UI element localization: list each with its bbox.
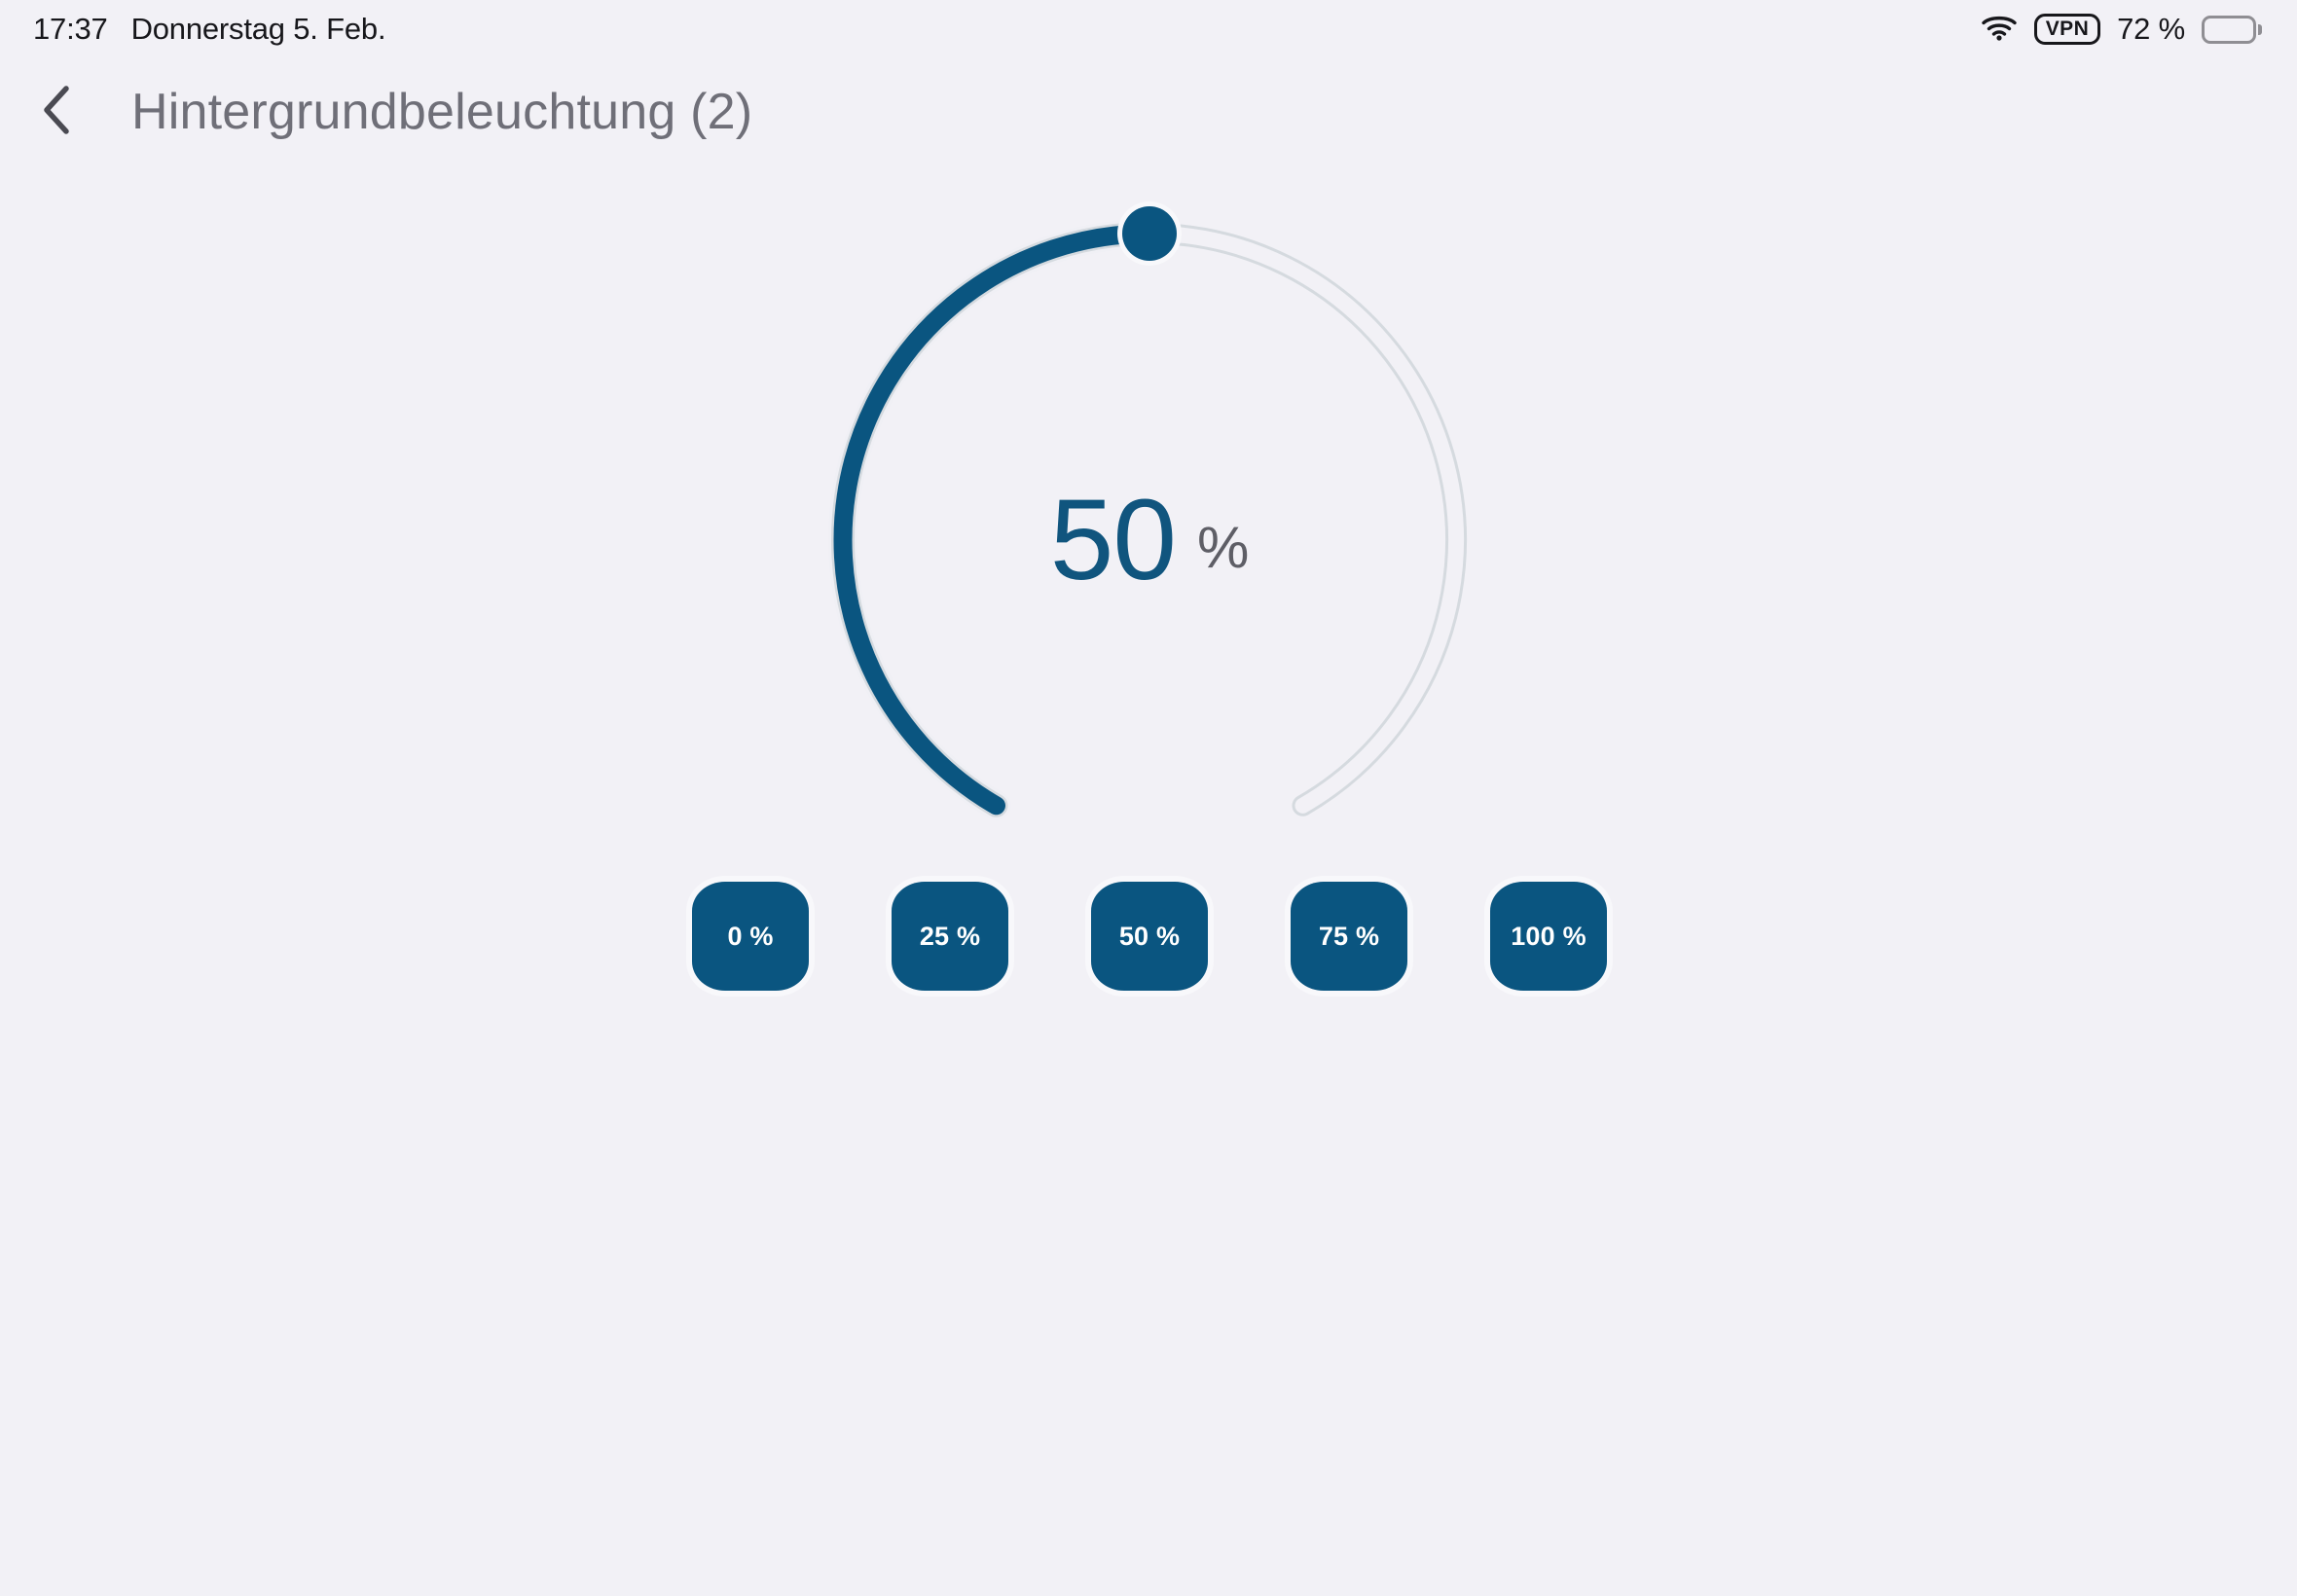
- brightness-gauge[interactable]: 50 %: [789, 180, 1510, 900]
- preset-button-25[interactable]: 25 %: [892, 882, 1008, 991]
- status-bar: 17:37 Donnerstag 5. Feb. VPN 72 %: [0, 0, 2297, 58]
- gauge-thumb[interactable]: [1122, 206, 1177, 261]
- wifi-icon: [1981, 14, 2018, 46]
- vpn-badge: VPN: [2034, 14, 2100, 45]
- preset-button-50[interactable]: 50 %: [1091, 882, 1208, 991]
- preset-button-100[interactable]: 100 %: [1490, 882, 1607, 991]
- preset-button-75[interactable]: 75 %: [1291, 882, 1407, 991]
- chevron-left-icon: [37, 84, 76, 141]
- battery-percent-label: 72 %: [2117, 12, 2185, 47]
- back-button[interactable]: [10, 65, 103, 159]
- battery-body: [2202, 16, 2256, 44]
- preset-button-0[interactable]: 0 %: [692, 882, 809, 991]
- preset-buttons: 0 % 25 % 50 % 75 % 100 %: [692, 882, 1611, 991]
- gauge-fill-outline: [843, 234, 1149, 806]
- status-date: Donnerstag 5. Feb.: [131, 12, 386, 47]
- status-clock: 17:37: [33, 12, 108, 47]
- battery-nub: [2258, 24, 2262, 35]
- page-title: Hintergrundbeleuchtung (2): [131, 83, 752, 141]
- battery-icon: [2202, 16, 2262, 44]
- status-bar-right: VPN 72 %: [1981, 12, 2262, 47]
- page-header: Hintergrundbeleuchtung (2): [0, 58, 2297, 165]
- status-bar-left: 17:37 Donnerstag 5. Feb.: [33, 12, 385, 47]
